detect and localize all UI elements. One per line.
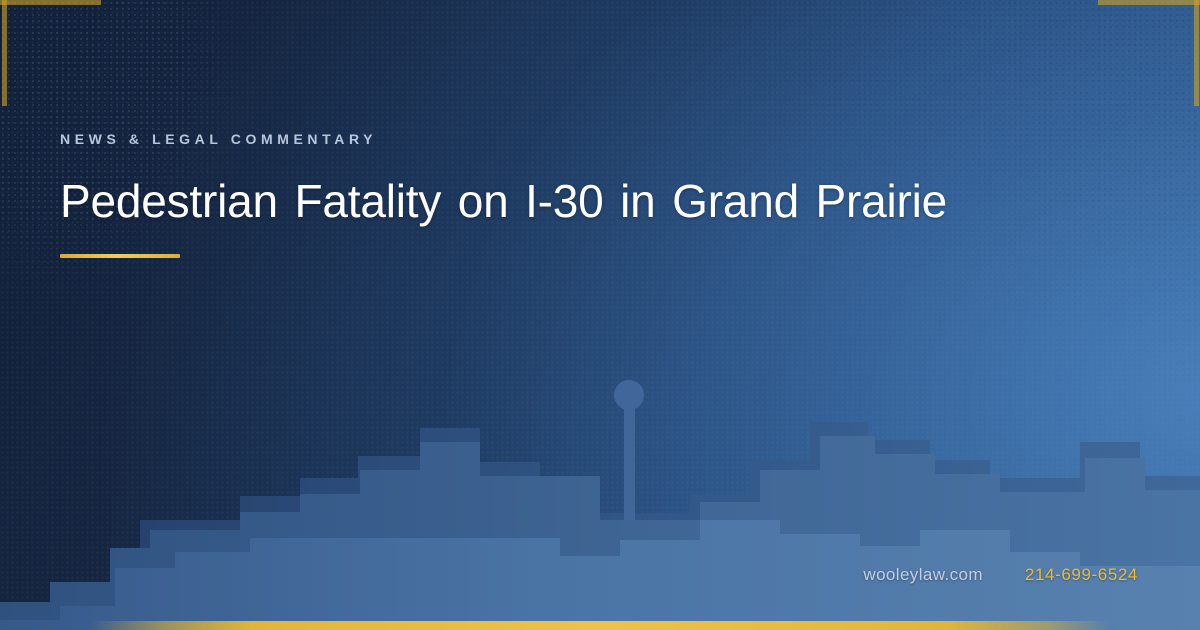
reunion-tower-icon bbox=[614, 380, 644, 520]
social-share-card: NEWS & LEGAL COMMENTARY Pedestrian Fatal… bbox=[0, 0, 1200, 630]
corner-bracket-top-right-horizontal bbox=[1098, 0, 1200, 5]
corner-bracket-top-left-vertical bbox=[2, 0, 7, 106]
corner-bracket-top-right-vertical bbox=[1194, 0, 1199, 106]
gold-bottom-bar bbox=[90, 621, 1110, 630]
footer: wooleylaw.com 214-699-6524 bbox=[863, 565, 1138, 585]
phone-number-label: 214-699-6524 bbox=[1025, 565, 1138, 585]
website-label: wooleylaw.com bbox=[863, 565, 983, 585]
eyebrow-label: NEWS & LEGAL COMMENTARY bbox=[60, 132, 1140, 146]
corner-bracket-top-left-horizontal bbox=[0, 0, 101, 5]
card-content: NEWS & LEGAL COMMENTARY Pedestrian Fatal… bbox=[60, 132, 1140, 258]
page-title: Pedestrian Fatality on I-30 in Grand Pra… bbox=[60, 174, 1080, 228]
city-skyline-silhouette bbox=[0, 370, 1200, 630]
gold-divider bbox=[60, 254, 180, 258]
